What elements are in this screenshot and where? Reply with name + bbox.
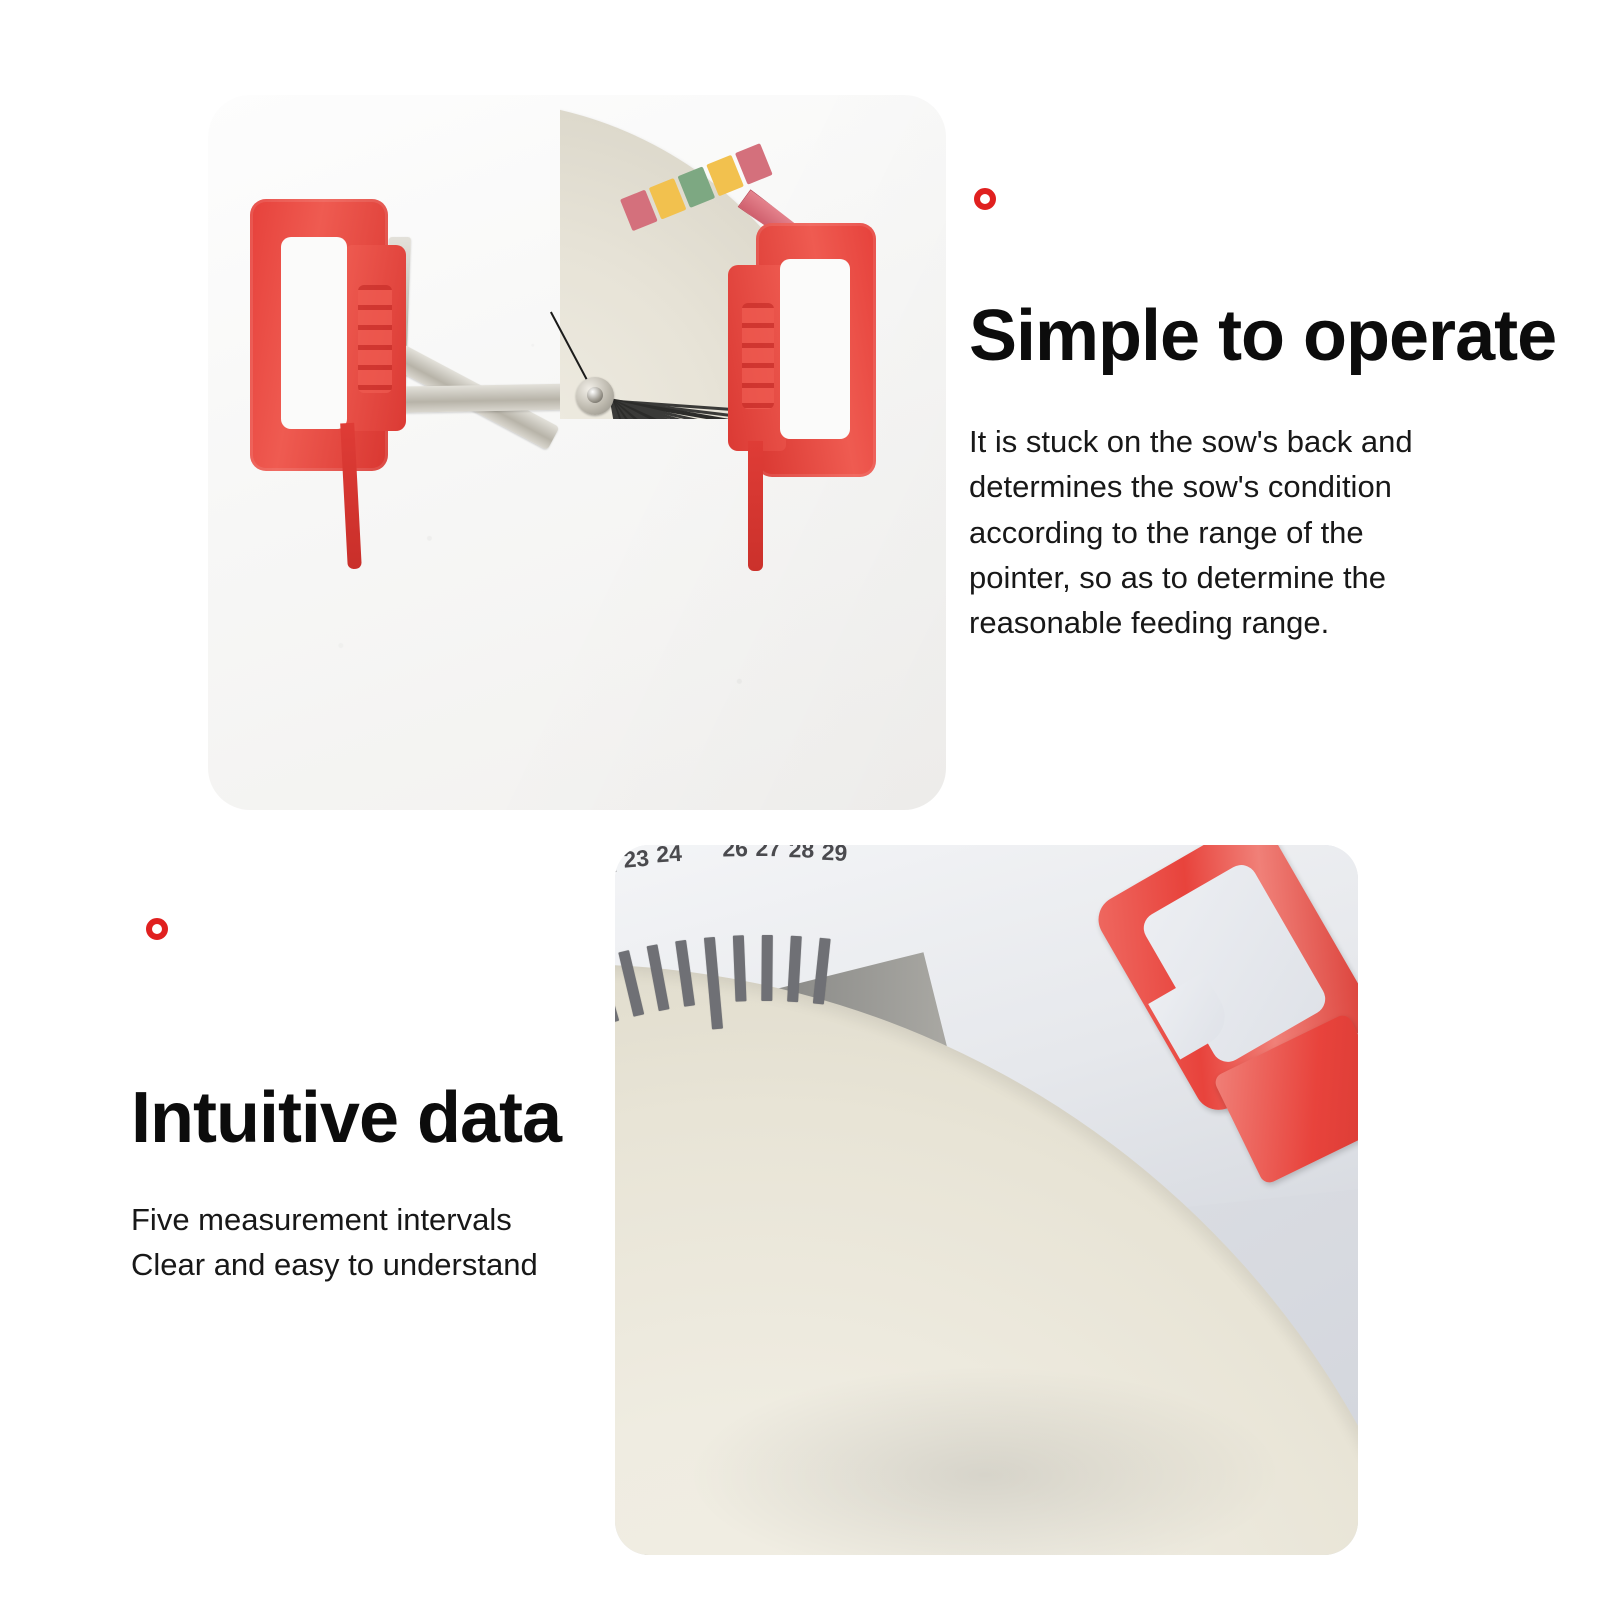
red-handle-right <box>728 223 876 513</box>
section-marker-icon-2 <box>146 918 168 940</box>
handle-right-grip-ridges <box>742 303 774 409</box>
section-body-intuitive-data: Five measurement intervals Clear and eas… <box>131 1197 651 1288</box>
product-photo-scale-closeup: 3456789101112131415161718192021222324252… <box>615 845 1358 1555</box>
section-marker-icon-1 <box>974 188 996 210</box>
section-title-intuitive-data: Intuitive data <box>131 1082 561 1154</box>
pivot-rivet <box>576 377 614 415</box>
product-photo-full-view <box>208 95 946 810</box>
body-line: Five measurement intervals <box>131 1197 651 1242</box>
photo-soft-shadow <box>685 1365 1285 1555</box>
product-feature-page: Simple to operate It is stuck on the sow… <box>0 0 1601 1601</box>
body-line: reasonable feeding range. <box>969 600 1469 645</box>
section-body-simple-to-operate: It is stuck on the sow's back and determ… <box>969 419 1469 645</box>
section-title-simple-to-operate: Simple to operate <box>969 300 1556 372</box>
handle-left-grip-ridges <box>358 285 392 393</box>
gauge-closeup-illustration: 3456789101112131415161718192021222324252… <box>615 845 1358 1555</box>
handle-right-opening <box>780 259 850 439</box>
body-line: Clear and easy to understand <box>131 1242 651 1287</box>
body-line: pointer, so as to determine the <box>969 555 1469 600</box>
body-line: according to the range of the <box>969 510 1469 555</box>
caliper-device-illustration <box>208 95 946 810</box>
handle-right-prong <box>748 441 763 571</box>
body-line: determines the sow's condition <box>969 464 1469 509</box>
handle-left-opening <box>281 237 347 429</box>
body-line: It is stuck on the sow's back and <box>969 419 1469 464</box>
red-handle-left <box>250 199 388 471</box>
red-handle-closeup <box>1105 845 1358 1157</box>
